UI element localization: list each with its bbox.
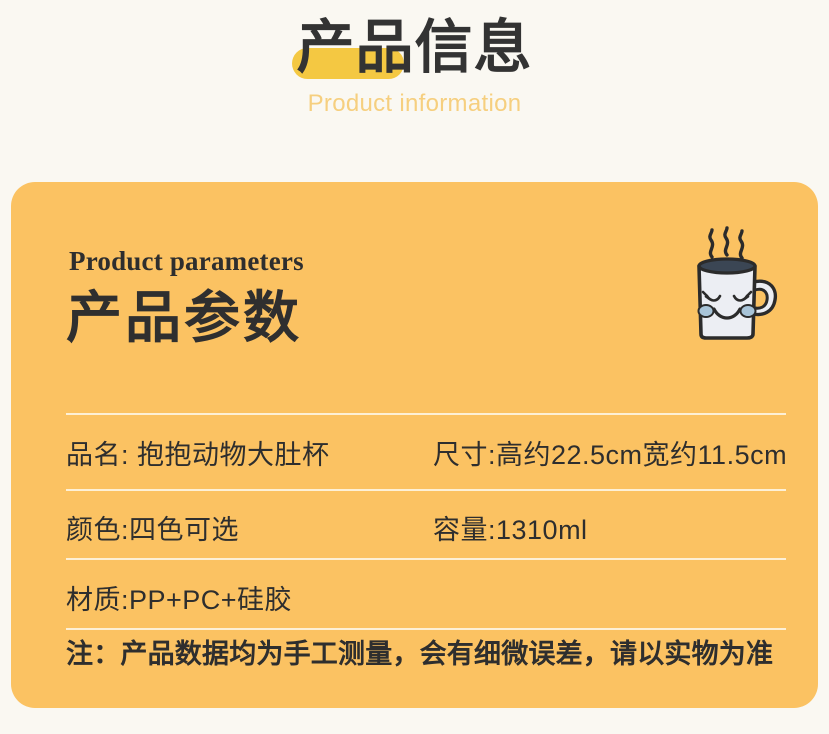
spec-divider: [66, 413, 786, 415]
spec-product-name: 品名: 抱抱动物大肚杯: [66, 442, 330, 469]
spec-material: 材质:PP+PC+硅胶: [66, 587, 292, 614]
product-parameters-card: Product parameters 产品参数: [11, 182, 818, 708]
page-header: 产品信息 Product information: [0, 0, 829, 160]
spec-row: 材质:PP+PC+硅胶: [11, 565, 818, 627]
spec-divider: [66, 558, 786, 560]
page-title: 产品信息: [296, 15, 532, 80]
page-title-wrapper: 产品信息: [0, 8, 829, 88]
spec-dimensions: 尺寸:高约22.5cm宽约11.5cm: [433, 442, 787, 469]
spec-note: 注：产品数据均为手工测量，会有细微误差，请以实物为准: [66, 641, 796, 668]
spec-row: 品名: 抱抱动物大肚杯 尺寸:高约22.5cm宽约11.5cm: [11, 420, 818, 488]
spec-row: 颜色:四色可选 容量:1310ml: [11, 495, 818, 557]
spec-color: 颜色:四色可选: [66, 517, 239, 544]
spec-divider: [66, 489, 786, 491]
spec-divider: [66, 628, 786, 630]
page-title-inner: 产品信息: [296, 19, 532, 77]
spec-capacity: 容量:1310ml: [433, 517, 588, 544]
page-subtitle: Product information: [0, 90, 829, 118]
spec-table: 品名: 抱抱动物大肚杯 尺寸:高约22.5cm宽约11.5cm 颜色:四色可选 …: [11, 182, 818, 708]
